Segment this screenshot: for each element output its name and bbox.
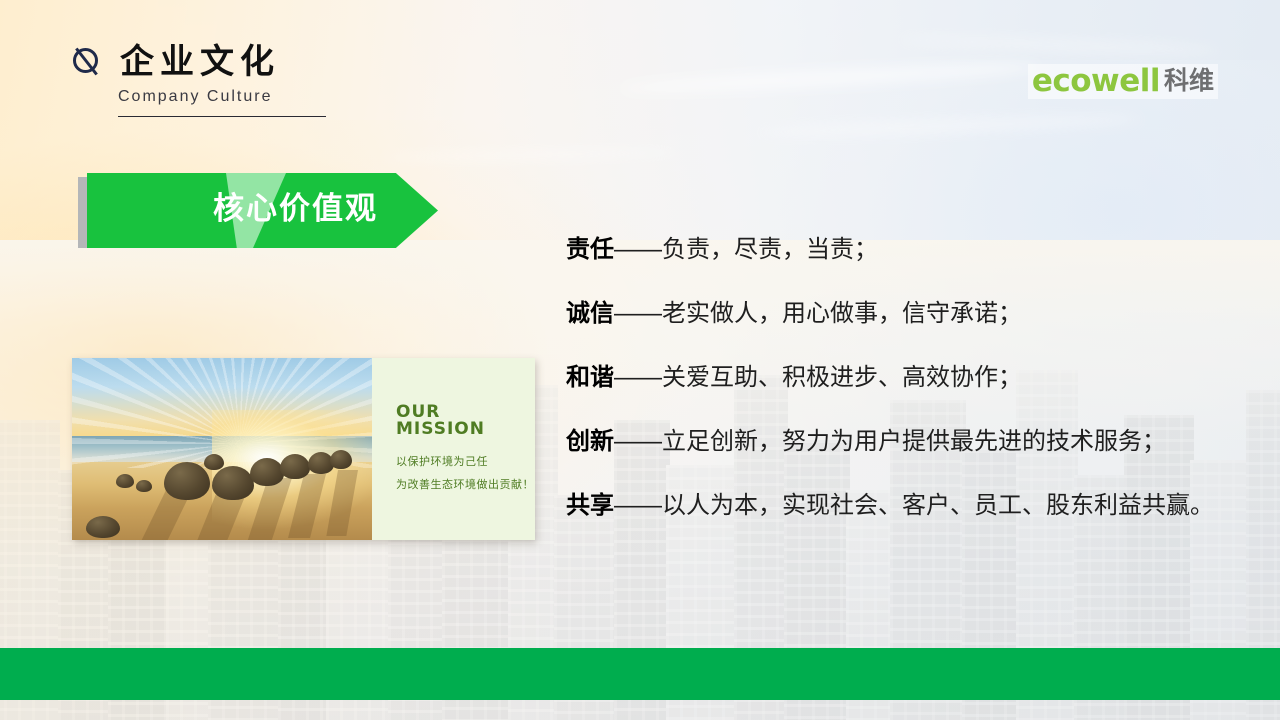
value-item: 诚信——老实做人，用心做事，信守承诺； (566, 302, 1266, 326)
circle-slash-icon (70, 44, 106, 80)
footer-bar (0, 648, 1280, 700)
value-body: ——立足创新，努力为用户提供最先进的技术服务； (614, 428, 1166, 455)
value-key: 和谐 (566, 364, 614, 391)
mission-text-panel: OUR MISSION 以保护环境为己任 为改善生态环境做出贡献！ (372, 358, 535, 540)
value-item: 创新——立足创新，努力为用户提供最先进的技术服务； (566, 430, 1266, 454)
logo-latin-text: ecowell (1032, 66, 1160, 97)
value-body: ——关爱互助、积极进步、高效协作； (614, 364, 1022, 391)
page-title: 企业文化 (120, 45, 280, 79)
logo-cn-text: 科维 (1164, 69, 1214, 94)
core-values-list: 责任——负责，尽责，当责； 诚信——老实做人，用心做事，信守承诺； 和谐——关爱… (566, 238, 1266, 518)
value-body: ——老实做人，用心做事，信守承诺； (614, 300, 1022, 327)
page-header: 企业文化 Company Culture (70, 44, 490, 117)
mission-line-1: 以保护环境为己任 (396, 452, 535, 473)
slide-canvas: 企业文化 Company Culture ecowell 科维 核心价值观 (0, 0, 1280, 720)
banner-grey-accent (78, 177, 87, 248)
section-banner: 核心价值观 (78, 173, 438, 248)
value-key: 责任 (566, 236, 614, 263)
value-key: 创新 (566, 428, 614, 455)
company-logo: ecowell 科维 (1028, 64, 1218, 99)
value-body: ——以人为本，实现社会、客户、员工、股东利益共赢。 (614, 492, 1214, 519)
value-key: 共享 (566, 492, 614, 519)
value-item: 责任——负责，尽责，当责； (566, 238, 1266, 262)
value-body: ——负责，尽责，当责； (614, 236, 878, 263)
value-key: 诚信 (566, 300, 614, 327)
mission-line-2: 为改善生态环境做出贡献！ (396, 475, 535, 496)
mission-photo (72, 358, 372, 540)
title-row: 企业文化 (70, 44, 490, 80)
mission-heading: OUR MISSION (396, 404, 535, 438)
banner-label: 核心价值观 (213, 190, 378, 227)
title-divider (118, 116, 326, 117)
value-item: 共享——以人为本，实现社会、客户、员工、股东利益共赢。 (566, 494, 1266, 518)
mission-card: OUR MISSION 以保护环境为己任 为改善生态环境做出贡献！ (72, 358, 535, 540)
value-item: 和谐——关爱互助、积极进步、高效协作； (566, 366, 1266, 390)
page-subtitle: Company Culture (118, 88, 490, 106)
